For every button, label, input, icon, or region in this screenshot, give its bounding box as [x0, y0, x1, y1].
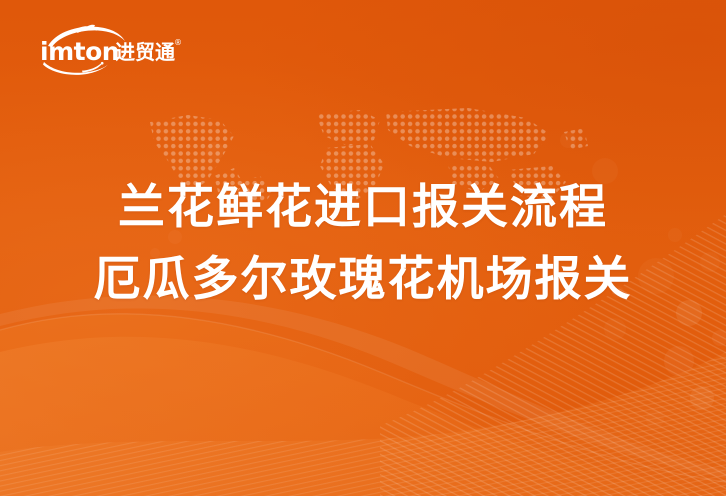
brand-logo[interactable]: imton 进贸通 ® [22, 20, 182, 78]
promotional-banner: imton 进贸通 ® 兰花鲜花进口报关流程 厄瓜多尔玫瑰花机场报关 [0, 0, 726, 496]
title-line-2: 厄瓜多尔玫瑰花机场报关 [0, 244, 726, 316]
title-line-1: 兰花鲜花进口报关流程 [0, 172, 726, 244]
logo-wordmark: imton [40, 37, 119, 66]
registered-trademark-icon: ® [174, 38, 182, 47]
dragon-silhouette-icon [76, 25, 97, 33]
title-block: 兰花鲜花进口报关流程 厄瓜多尔玫瑰花机场报关 [0, 172, 726, 316]
logo-chinese-name: 进贸通 [115, 40, 175, 64]
